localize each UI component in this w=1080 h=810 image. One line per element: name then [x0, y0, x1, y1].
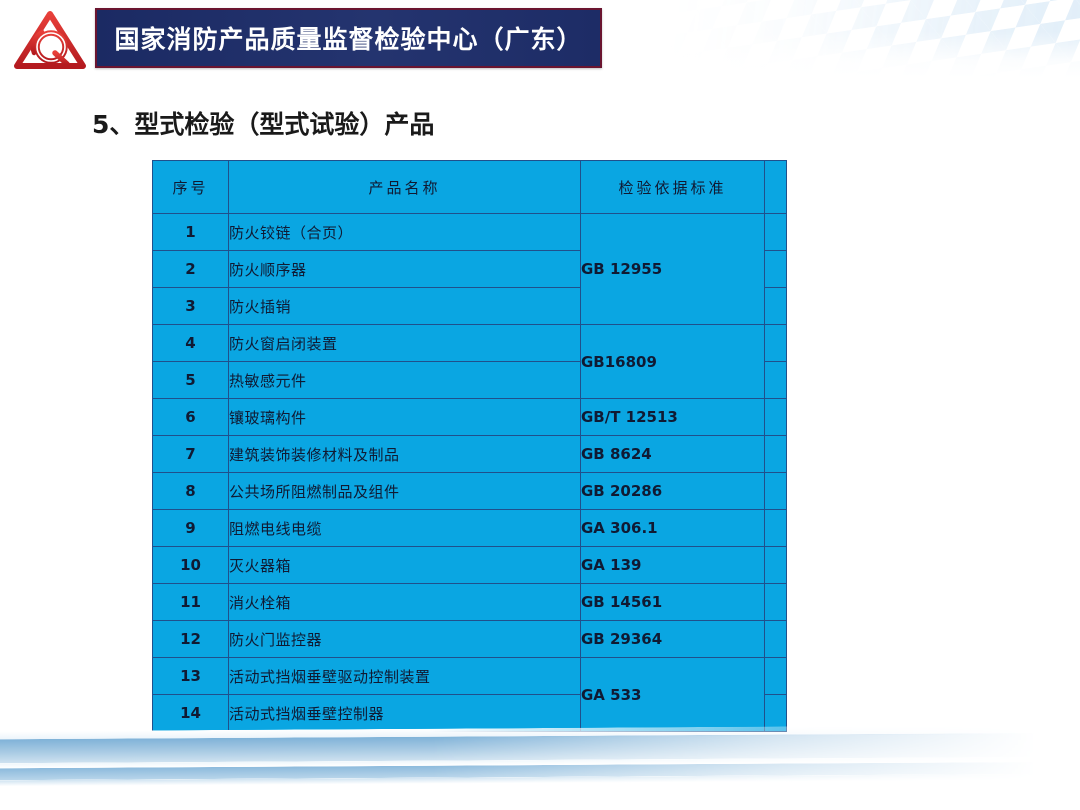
- cell-spacer: [765, 584, 787, 621]
- table-row: 13活动式挡烟垂壁驱动控制装置GA 533: [153, 658, 787, 695]
- cell-product-name: 防火插销: [229, 288, 581, 325]
- cell-product-name: 建筑装饰装修材料及制品: [229, 436, 581, 473]
- table-body: 1防火铰链（合页）GB 129552防火顺序器3防火插销4防火窗启闭装置GB16…: [153, 214, 787, 732]
- cell-product-name: 灭火器箱: [229, 547, 581, 584]
- table-row: 11消火栓箱GB 14561: [153, 584, 787, 621]
- cell-row-number: 5: [153, 362, 229, 399]
- cell-row-number: 12: [153, 621, 229, 658]
- cell-standard: GB 8624: [581, 436, 765, 473]
- cell-spacer: [765, 547, 787, 584]
- cell-spacer: [765, 251, 787, 288]
- checker-pattern-icon: [660, 0, 1080, 78]
- cell-spacer: [765, 362, 787, 399]
- table-row: 1防火铰链（合页）GB 12955: [153, 214, 787, 251]
- cell-spacer: [765, 658, 787, 695]
- cell-standard: GB 20286: [581, 473, 765, 510]
- product-table-container: 序号 产品名称 检验依据标准 1防火铰链（合页）GB 129552防火顺序器3防…: [152, 160, 786, 732]
- cell-spacer: [765, 288, 787, 325]
- cell-product-name: 公共场所阻燃制品及组件: [229, 473, 581, 510]
- cell-spacer: [765, 510, 787, 547]
- cell-row-number: 4: [153, 325, 229, 362]
- cell-row-number: 7: [153, 436, 229, 473]
- cell-product-name: 防火铰链（合页）: [229, 214, 581, 251]
- cell-spacer: [765, 325, 787, 362]
- cell-standard: GA 306.1: [581, 510, 765, 547]
- top-right-decoration: [660, 0, 1080, 78]
- table-row: 10灭火器箱GA 139: [153, 547, 787, 584]
- cell-spacer: [765, 214, 787, 251]
- cell-standard: GB 14561: [581, 584, 765, 621]
- cell-standard: GA 533: [581, 658, 765, 732]
- bottom-stripe-secondary: [0, 762, 1080, 781]
- cell-spacer: [765, 399, 787, 436]
- bottom-stripe-tail: [0, 774, 1080, 787]
- cell-standard: GB 12955: [581, 214, 765, 325]
- column-header-name: 产品名称: [229, 161, 581, 214]
- cell-product-name: 热敏感元件: [229, 362, 581, 399]
- cell-standard: GB 29364: [581, 621, 765, 658]
- table-header-row: 序号 产品名称 检验依据标准: [153, 161, 787, 214]
- cell-row-number: 8: [153, 473, 229, 510]
- table-row: 7建筑装饰装修材料及制品GB 8624: [153, 436, 787, 473]
- cell-row-number: 14: [153, 695, 229, 732]
- table-row: 8公共场所阻燃制品及组件GB 20286: [153, 473, 787, 510]
- table-row: 9阻燃电线电缆GA 306.1: [153, 510, 787, 547]
- cell-row-number: 13: [153, 658, 229, 695]
- cell-product-name: 活动式挡烟垂壁驱动控制装置: [229, 658, 581, 695]
- table-row: 6镶玻璃构件GB/T 12513: [153, 399, 787, 436]
- page-title: 5、型式检验（型式试验）产品: [92, 105, 434, 141]
- cell-row-number: 1: [153, 214, 229, 251]
- organization-name: 国家消防产品质量监督检验中心（广东）: [114, 20, 582, 56]
- cell-spacer: [765, 473, 787, 510]
- cell-standard: GB/T 12513: [581, 399, 765, 436]
- cell-spacer: [765, 436, 787, 473]
- cell-product-name: 活动式挡烟垂壁控制器: [229, 695, 581, 732]
- cell-product-name: 镶玻璃构件: [229, 399, 581, 436]
- cell-product-name: 防火窗启闭装置: [229, 325, 581, 362]
- cell-product-name: 防火门监控器: [229, 621, 581, 658]
- bottom-stripe-primary: [0, 733, 1080, 764]
- cell-row-number: 6: [153, 399, 229, 436]
- cell-spacer: [765, 695, 787, 732]
- cqc-triangle-q-logo-icon: [12, 9, 88, 71]
- column-header-standard: 检验依据标准: [581, 161, 765, 214]
- cell-product-name: 消火栓箱: [229, 584, 581, 621]
- cell-standard: GB16809: [581, 325, 765, 399]
- cell-row-number: 11: [153, 584, 229, 621]
- table-row: 4防火窗启闭装置GB16809: [153, 325, 787, 362]
- cell-product-name: 防火顺序器: [229, 251, 581, 288]
- product-table: 序号 产品名称 检验依据标准 1防火铰链（合页）GB 129552防火顺序器3防…: [152, 160, 787, 732]
- cell-row-number: 10: [153, 547, 229, 584]
- bottom-stripe-gap: [0, 757, 1080, 769]
- cell-standard: GA 139: [581, 547, 765, 584]
- organization-banner: 国家消防产品质量监督检验中心（广东）: [95, 8, 602, 68]
- cell-product-name: 阻燃电线电缆: [229, 510, 581, 547]
- cell-row-number: 2: [153, 251, 229, 288]
- cell-row-number: 9: [153, 510, 229, 547]
- cell-spacer: [765, 621, 787, 658]
- column-header-spacer: [765, 161, 787, 214]
- decoration-fade: [660, 0, 1080, 78]
- table-row: 12防火门监控器GB 29364: [153, 621, 787, 658]
- cell-row-number: 3: [153, 288, 229, 325]
- column-header-no: 序号: [153, 161, 229, 214]
